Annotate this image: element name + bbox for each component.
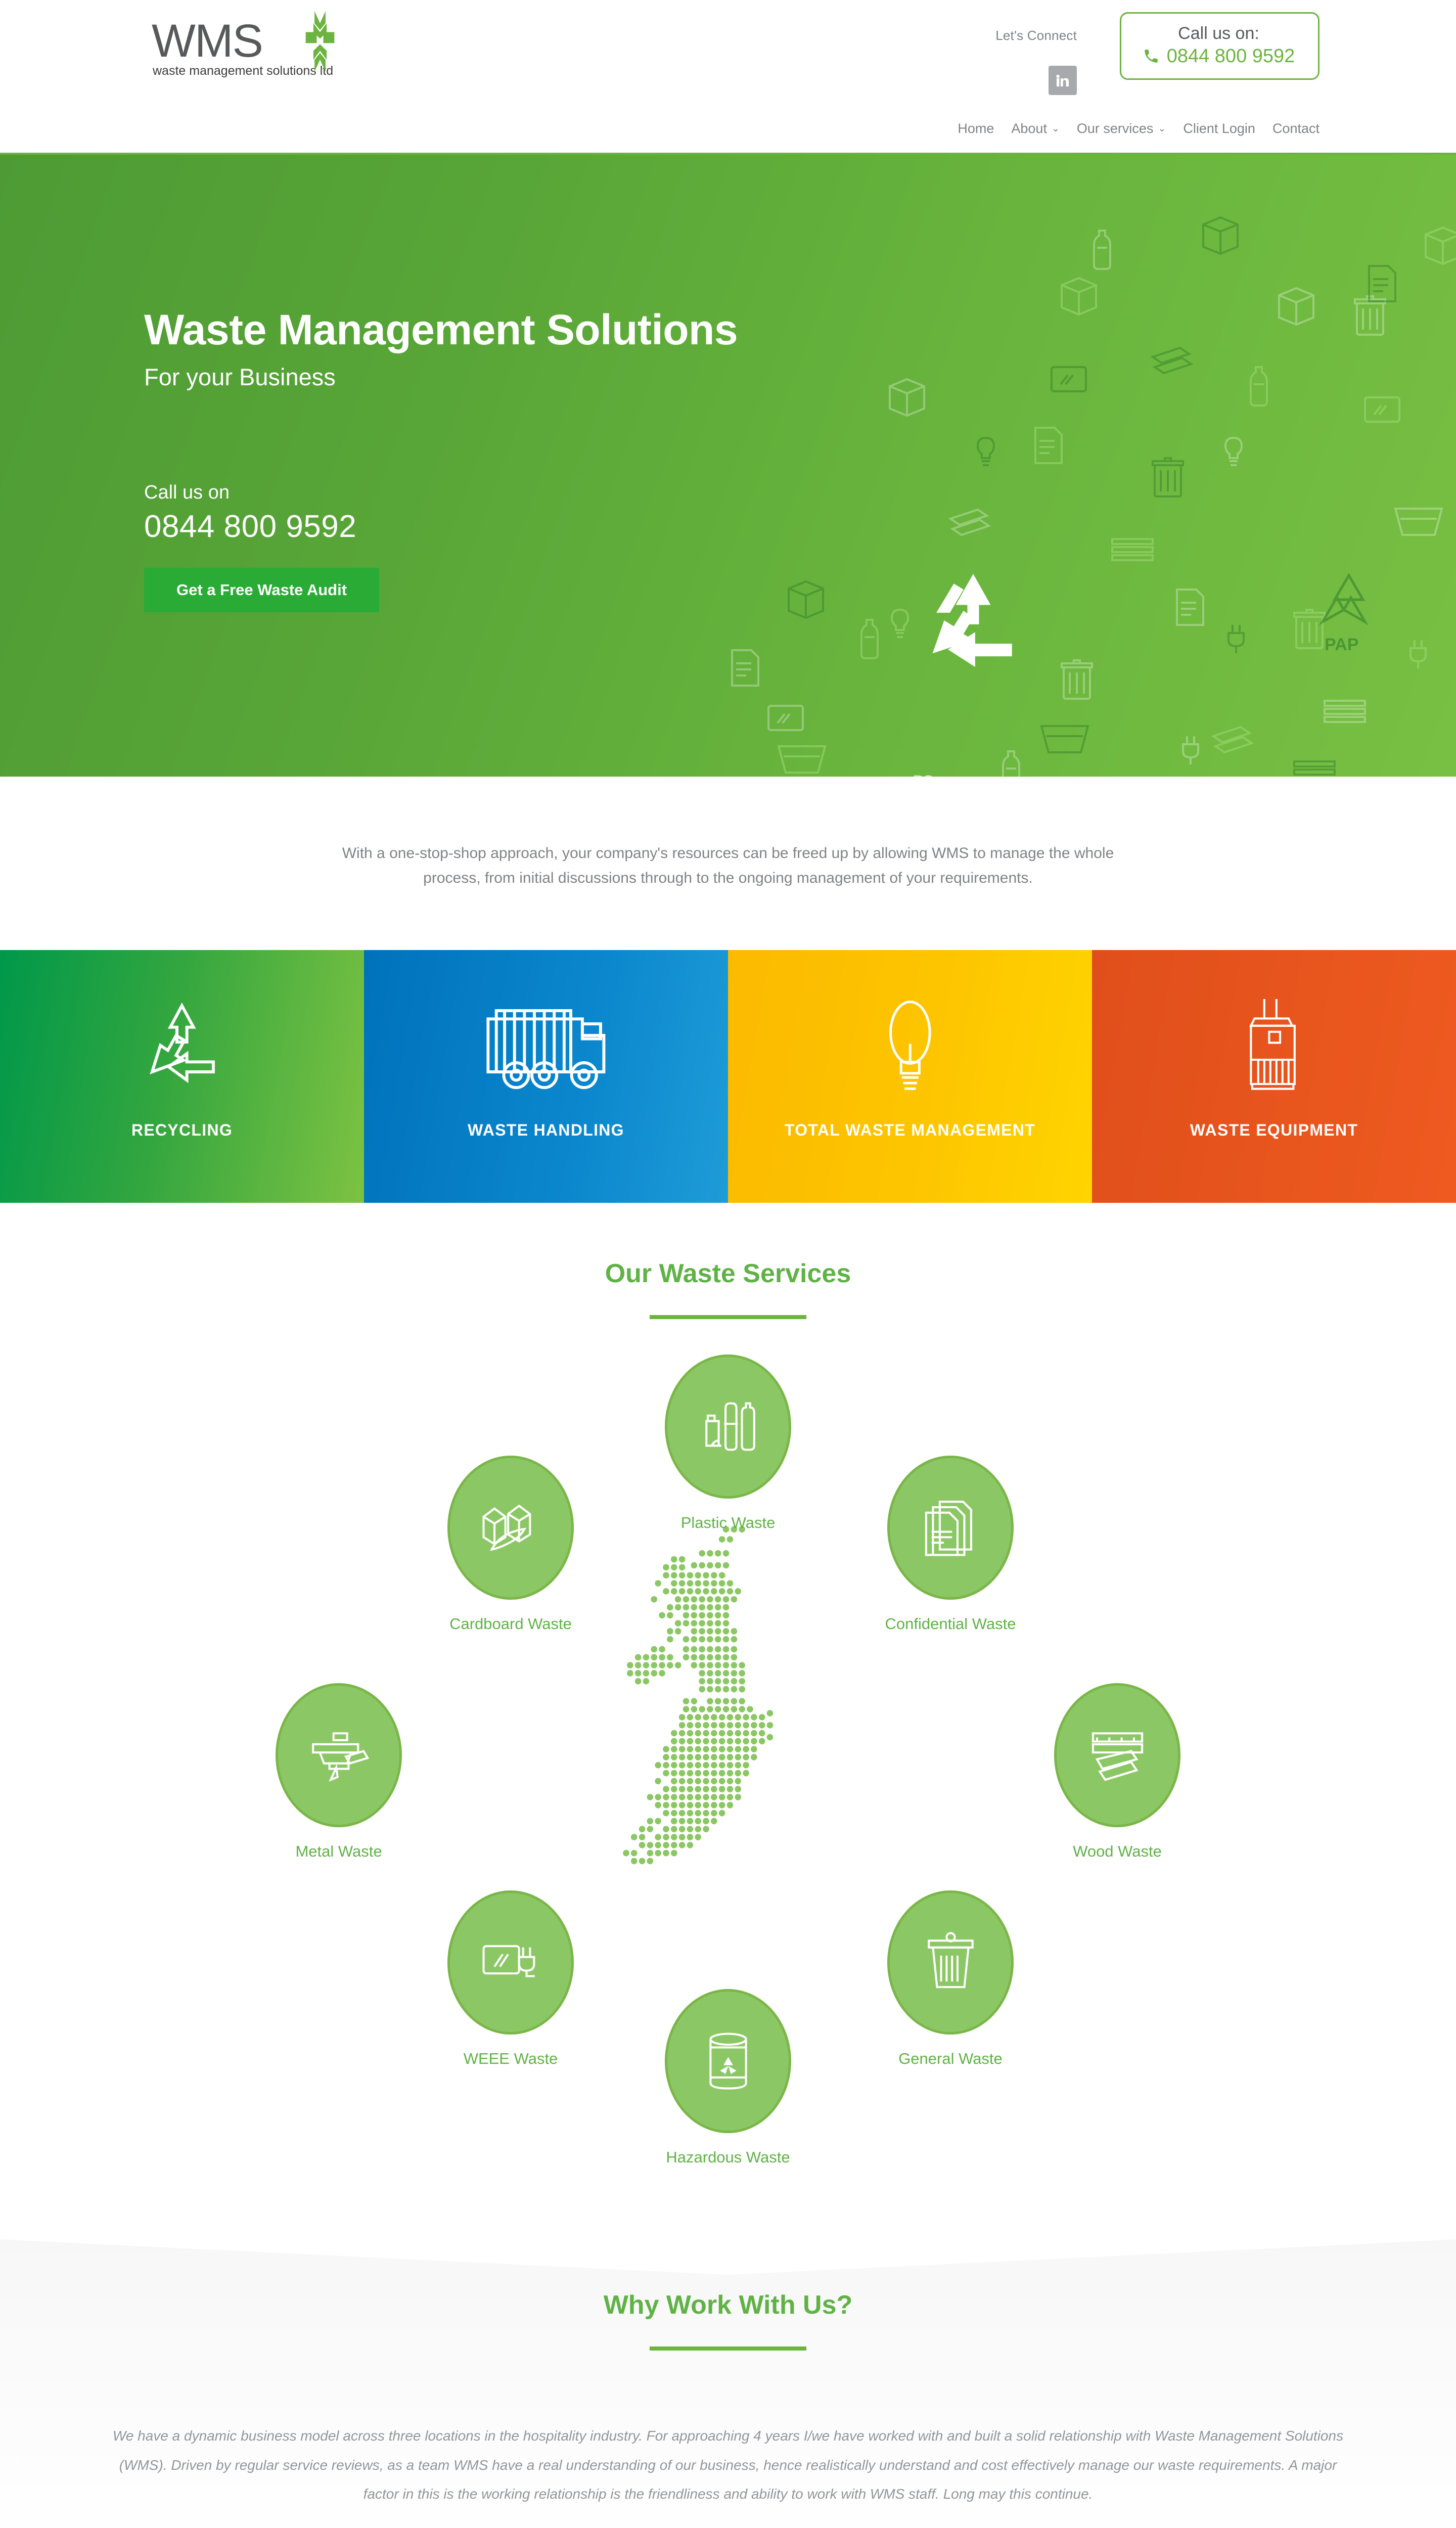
service-cardboard-waste[interactable]: Cardboard Waste <box>415 1456 607 1633</box>
nav-label: Client Login <box>1183 121 1255 137</box>
bin-lorry-icon <box>480 997 612 1093</box>
nav-label: About <box>1011 121 1047 137</box>
services-section: Our Waste Services <box>0 1203 1456 2239</box>
electronics-icon <box>447 1890 574 2035</box>
free-waste-audit-button[interactable]: Get a Free Waste Audit <box>144 568 379 612</box>
testimonial-quote: We have a dynamic business model across … <box>111 2421 1345 2508</box>
service-plastic-waste[interactable]: Plastic Waste <box>632 1355 824 1532</box>
service-weee-waste[interactable]: WEEE Waste <box>415 1890 607 2068</box>
testimonials-title: Why Work With Us? <box>0 2290 1456 2320</box>
hero-phone-number[interactable]: 0844 800 9592 <box>144 509 738 545</box>
service-label: Confidential Waste <box>854 1615 1046 1633</box>
baler-icon <box>1244 997 1304 1093</box>
hero-subtitle: For your Business <box>144 363 738 391</box>
lightbulb-icon <box>879 997 942 1093</box>
service-hazardous-waste[interactable]: Hazardous Waste <box>632 1989 824 2166</box>
nav-item-our-services[interactable]: Our services⌄ <box>1077 121 1166 137</box>
header-call-box[interactable]: Call us on: 0844 800 9592 <box>1120 12 1319 80</box>
service-label: Plastic Waste <box>632 1514 824 1532</box>
section-divider <box>650 2346 806 2351</box>
category-waste-equipment[interactable]: WASTE EQUIPMENT <box>1092 950 1456 1203</box>
svg-text:WMS: WMS <box>152 19 262 67</box>
nav-item-client-login[interactable]: Client Login <box>1183 121 1255 137</box>
service-wood-waste[interactable]: Wood Waste <box>1021 1683 1213 1861</box>
nav-label: Contact <box>1272 121 1319 137</box>
nav-label: Our services <box>1077 121 1154 137</box>
service-general-waste[interactable]: General Waste <box>854 1890 1046 2068</box>
hazard-drum-icon <box>665 1989 791 2133</box>
phone-icon <box>1143 48 1160 65</box>
category-strip: RECYCLING WASTE HANDLING <box>0 950 1456 1203</box>
hero-title: Waste Management Solutions <box>144 306 738 353</box>
uk-dotted-map-icon <box>597 1521 859 1941</box>
hero-content: Waste Management Solutions For your Busi… <box>144 306 738 612</box>
category-label: TOTAL WASTE MANAGEMENT <box>785 1120 1035 1141</box>
flower-logo-icon <box>292 11 348 72</box>
svg-text:PS: PS <box>913 773 933 777</box>
section-curve-top <box>0 2239 1456 2275</box>
nav-label: Home <box>958 121 994 137</box>
nav-item-home[interactable]: Home <box>958 121 994 137</box>
wheelie-bin-icon <box>887 1890 1014 2035</box>
lets-connect-label: Let's Connect <box>995 28 1077 43</box>
main-navigation: Home About⌄ Our services⌄ Client Login C… <box>958 121 1319 137</box>
category-label: RECYCLING <box>131 1120 233 1141</box>
call-number: 0844 800 9592 <box>1167 44 1295 69</box>
plastic-bottles-icon <box>665 1355 791 1499</box>
header-right: Let's Connect Call us on: 0844 800 9592 … <box>746 0 1362 155</box>
linkedin-icon[interactable] <box>1049 66 1077 95</box>
category-label: WASTE EQUIPMENT <box>1190 1120 1358 1141</box>
service-confidential-waste[interactable]: Confidential Waste <box>854 1456 1046 1633</box>
service-metal-waste[interactable]: Metal Waste <box>243 1683 435 1861</box>
call-number-row[interactable]: 0844 800 9592 <box>1139 44 1299 69</box>
svg-text:PAP: PAP <box>1325 635 1358 654</box>
service-label: Hazardous Waste <box>632 2148 824 2166</box>
recycle-symbol-icon <box>915 564 1031 681</box>
category-recycling[interactable]: RECYCLING <box>0 950 364 1203</box>
category-total-waste-management[interactable]: TOTAL WASTE MANAGEMENT <box>728 950 1092 1203</box>
service-label: Metal Waste <box>243 1842 435 1861</box>
call-label: Call us on: <box>1139 23 1299 44</box>
service-label: General Waste <box>854 2050 1046 2068</box>
hero-banner: PAP PS Waste Management Solutions For yo… <box>0 155 1456 777</box>
nav-item-contact[interactable]: Contact <box>1272 121 1319 137</box>
service-label: Cardboard Waste <box>415 1615 607 1633</box>
documents-icon <box>887 1456 1014 1600</box>
category-waste-handling[interactable]: WASTE HANDLING <box>364 950 728 1203</box>
header-logo[interactable]: WMS waste management solutions ltd <box>152 19 389 80</box>
timber-icon <box>1054 1683 1180 1827</box>
homepage: WMS waste management solutions ltd Let's… <box>0 0 1456 2528</box>
recycle-icon <box>141 997 223 1093</box>
metal-anvil-icon <box>276 1683 402 1827</box>
service-label: WEEE Waste <box>415 2050 607 2068</box>
nav-item-about[interactable]: About⌄ <box>1011 121 1059 137</box>
category-label: WASTE HANDLING <box>468 1120 624 1141</box>
intro-section: With a one-stop-shop approach, your comp… <box>0 777 1456 950</box>
testimonials-section: Why Work With Us? We have a dynamic busi… <box>0 2239 1456 2528</box>
chevron-down-icon: ⌄ <box>1052 124 1060 133</box>
section-divider <box>650 1315 806 1319</box>
site-header: WMS waste management solutions ltd Let's… <box>0 0 1456 155</box>
hero-call-label: Call us on <box>144 482 738 504</box>
services-title: Our Waste Services <box>0 1258 1456 1289</box>
cardboard-boxes-icon <box>447 1456 574 1600</box>
services-wheel: Plastic Waste Confidential Waste <box>0 1329 1456 2219</box>
service-label: Wood Waste <box>1021 1842 1213 1861</box>
chevron-down-icon: ⌄ <box>1158 124 1166 133</box>
intro-paragraph: With a one-stop-shop approach, your comp… <box>316 841 1140 890</box>
